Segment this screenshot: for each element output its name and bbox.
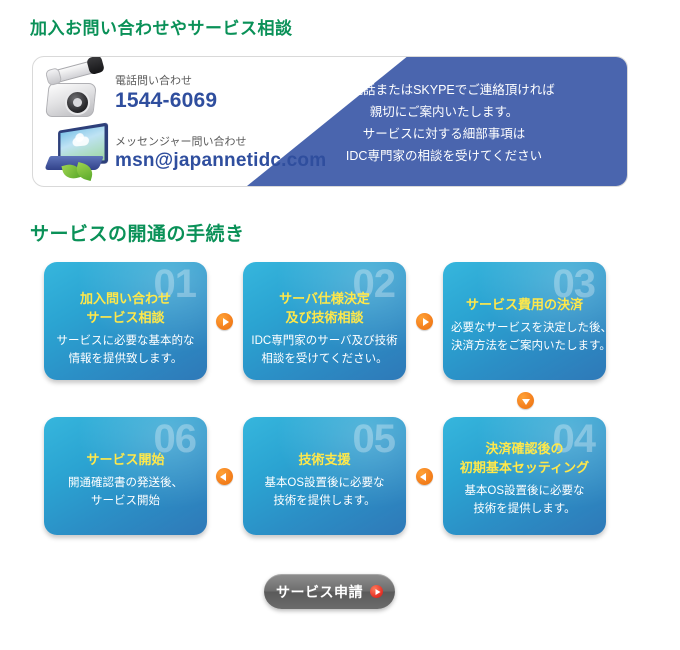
phone-label: 電話問い合わせ xyxy=(115,72,217,88)
apply-button-label: サービス申請 xyxy=(276,582,363,602)
step-description: サービスに必要な基本的な 情報を提供致します。 xyxy=(52,332,199,368)
step-desc-line: 決済方法をご案内いたします。 xyxy=(451,337,598,355)
step-title-line: 技術支援 xyxy=(251,450,398,469)
arrow-down-icon xyxy=(517,392,534,409)
step-description: 必要なサービスを決定した後、 決済方法をご案内いたします。 xyxy=(451,319,598,355)
step-title-line: サービス費用の決済 xyxy=(451,295,598,314)
banner-note-line-2: 親切にご案内いたします。 xyxy=(279,101,609,123)
step-title: サービス開始 xyxy=(52,450,199,469)
arrow-right-icon xyxy=(216,313,233,330)
step-title: サーバ仕様決定 及び技術相談 xyxy=(251,289,398,327)
step-desc-line: IDC専門家のサーバ及び技術 xyxy=(251,332,398,350)
step-title-line: 加入問い合わせ xyxy=(52,289,199,308)
step-desc-line: 基本OS設置後に必要な xyxy=(451,482,598,500)
step-card-03[interactable]: 03 サービス費用の決済 必要なサービスを決定した後、 決済方法をご案内いたしま… xyxy=(443,262,606,380)
service-apply-button[interactable]: サービス申請 xyxy=(264,574,395,609)
step-title: 決済確認後の 初期基本セッティング xyxy=(451,439,598,477)
step-desc-line: 開通確認書の発送後、 xyxy=(52,474,199,492)
phone-number: 1544-6069 xyxy=(115,89,217,113)
rotary-telephone-icon xyxy=(43,63,109,121)
step-desc-line: 必要なサービスを決定した後、 xyxy=(451,319,598,337)
step-desc-line: サービスに必要な基本的な xyxy=(52,332,199,350)
page-title-steps: サービスの開通の手続き xyxy=(30,219,245,246)
step-title-line: 初期基本セッティング xyxy=(451,458,598,477)
arrow-left-icon xyxy=(416,468,433,485)
banner-note-line-1: *お電話またはSKYPEでご連絡頂ければ xyxy=(279,79,609,101)
step-desc-line: 相談を受けてください。 xyxy=(251,350,398,368)
step-title-line: サービス開始 xyxy=(52,450,199,469)
step-title: 技術支援 xyxy=(251,450,398,469)
step-title: サービス費用の決済 xyxy=(451,295,598,314)
banner-note: *お電話またはSKYPEでご連絡頂ければ 親切にご案内いたします。 サービスに対… xyxy=(279,79,609,167)
laptop-icon xyxy=(43,123,109,181)
step-desc-line: 基本OS設置後に必要な xyxy=(251,474,398,492)
step-desc-line: サービス開始 xyxy=(52,492,199,510)
step-card-02[interactable]: 02 サーバ仕様決定 及び技術相談 IDC専門家のサーバ及び技術 相談を受けてく… xyxy=(243,262,406,380)
step-desc-line: 技術を提供します。 xyxy=(251,492,398,510)
step-title-line: サービス相談 xyxy=(52,308,199,327)
step-card-01[interactable]: 01 加入問い合わせ サービス相談 サービスに必要な基本的な 情報を提供致します… xyxy=(44,262,207,380)
arrow-left-icon xyxy=(216,468,233,485)
step-description: 基本OS設置後に必要な 技術を提供します。 xyxy=(451,482,598,518)
contact-banner: 電話問い合わせ 1544-6069 メッセンジャー問い合わせ msn@japan… xyxy=(32,56,628,187)
phone-contact-row: 電話問い合わせ 1544-6069 xyxy=(43,63,217,121)
step-description: 開通確認書の発送後、 サービス開始 xyxy=(52,474,199,510)
page-title-contact: 加入お問い合わせやサービス相談 xyxy=(30,14,293,39)
step-title: 加入問い合わせ サービス相談 xyxy=(52,289,199,327)
step-title-line: 決済確認後の xyxy=(451,439,598,458)
step-card-05[interactable]: 05 技術支援 基本OS設置後に必要な 技術を提供します。 xyxy=(243,417,406,535)
step-description: IDC専門家のサーバ及び技術 相談を受けてください。 xyxy=(251,332,398,368)
step-card-06[interactable]: 06 サービス開始 開通確認書の発送後、 サービス開始 xyxy=(44,417,207,535)
step-card-04[interactable]: 04 決済確認後の 初期基本セッティング 基本OS設置後に必要な 技術を提供しま… xyxy=(443,417,606,535)
step-title-line: 及び技術相談 xyxy=(251,308,398,327)
arrow-right-icon xyxy=(416,313,433,330)
banner-note-line-3: サービスに対する細部事項は xyxy=(279,123,609,145)
step-desc-line: 技術を提供します。 xyxy=(451,500,598,518)
step-desc-line: 情報を提供致します。 xyxy=(52,350,199,368)
step-title-line: サーバ仕様決定 xyxy=(251,289,398,308)
banner-note-line-4: IDC専門家の相談を受けてください xyxy=(279,145,609,167)
play-arrow-icon xyxy=(370,585,383,598)
step-description: 基本OS設置後に必要な 技術を提供します。 xyxy=(251,474,398,510)
